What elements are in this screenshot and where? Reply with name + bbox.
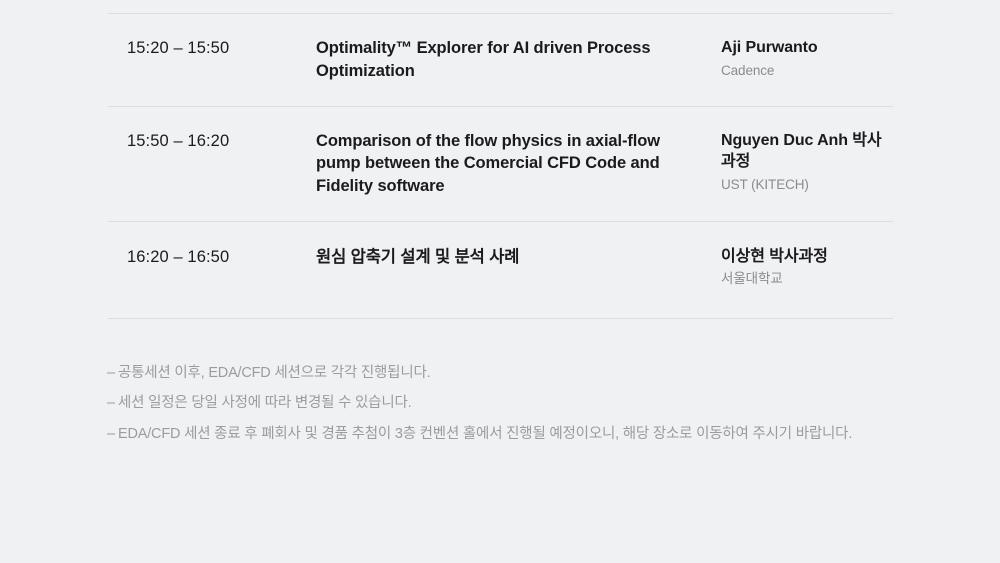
speaker-name: Aji Purwanto xyxy=(721,37,893,59)
session-time: 15:50 – 16:20 xyxy=(108,130,316,153)
session-speaker-block: 이상현 박사과정 서울대학교 xyxy=(721,246,893,290)
session-time: 16:20 – 16:50 xyxy=(108,246,316,269)
note-item: – 공통세션 이후, EDA/CFD 세션으로 각각 진행됩니다. xyxy=(107,362,927,385)
session-speaker-block: Aji Purwanto Cadence xyxy=(721,37,893,81)
session-title: Optimality™ Explorer for AI driven Proce… xyxy=(316,37,721,83)
note-item: – 세션 일정은 당일 사정에 따라 변경될 수 있습니다. xyxy=(107,392,927,415)
session-time: 15:20 – 15:50 xyxy=(108,37,316,60)
table-row: 15:50 – 16:20 Comparison of the flow phy… xyxy=(108,107,893,221)
table-row: 15:20 – 15:50 Optimality™ Explorer for A… xyxy=(108,14,893,106)
note-text: 세션 일정은 당일 사정에 따라 변경될 수 있습니다. xyxy=(118,392,927,415)
note-marker: – xyxy=(107,362,118,385)
note-item: – EDA/CFD 세션 종료 후 폐회사 및 경품 추첨이 3층 컨벤션 홀에… xyxy=(107,423,927,446)
table-divider-bottom xyxy=(108,318,893,319)
note-marker: – xyxy=(107,423,118,446)
table-row: 16:20 – 16:50 원심 압축기 설계 및 분석 사례 이상현 박사과정… xyxy=(108,222,893,318)
speaker-name: 이상현 박사과정 xyxy=(721,246,893,268)
note-marker: – xyxy=(107,392,118,415)
session-title: 원심 압축기 설계 및 분석 사례 xyxy=(316,246,721,269)
session-speaker-block: Nguyen Duc Anh 박사과정 UST (KITECH) xyxy=(721,130,893,195)
speaker-name: Nguyen Duc Anh 박사과정 xyxy=(721,130,893,173)
speaker-affiliation: 서울대학교 xyxy=(721,269,893,289)
speaker-affiliation: UST (KITECH) xyxy=(721,175,893,195)
note-text: EDA/CFD 세션 종료 후 폐회사 및 경품 추첨이 3층 컨벤션 홀에서 … xyxy=(118,423,896,446)
notes-list: – 공통세션 이후, EDA/CFD 세션으로 각각 진행됩니다. – 세션 일… xyxy=(107,362,927,453)
session-title: Comparison of the flow physics in axial-… xyxy=(316,130,721,198)
schedule-page: 15:20 – 15:50 Optimality™ Explorer for A… xyxy=(0,0,1000,563)
note-text: 공통세션 이후, EDA/CFD 세션으로 각각 진행됩니다. xyxy=(118,362,927,385)
schedule-table: 15:20 – 15:50 Optimality™ Explorer for A… xyxy=(108,13,893,319)
speaker-affiliation: Cadence xyxy=(721,61,893,81)
